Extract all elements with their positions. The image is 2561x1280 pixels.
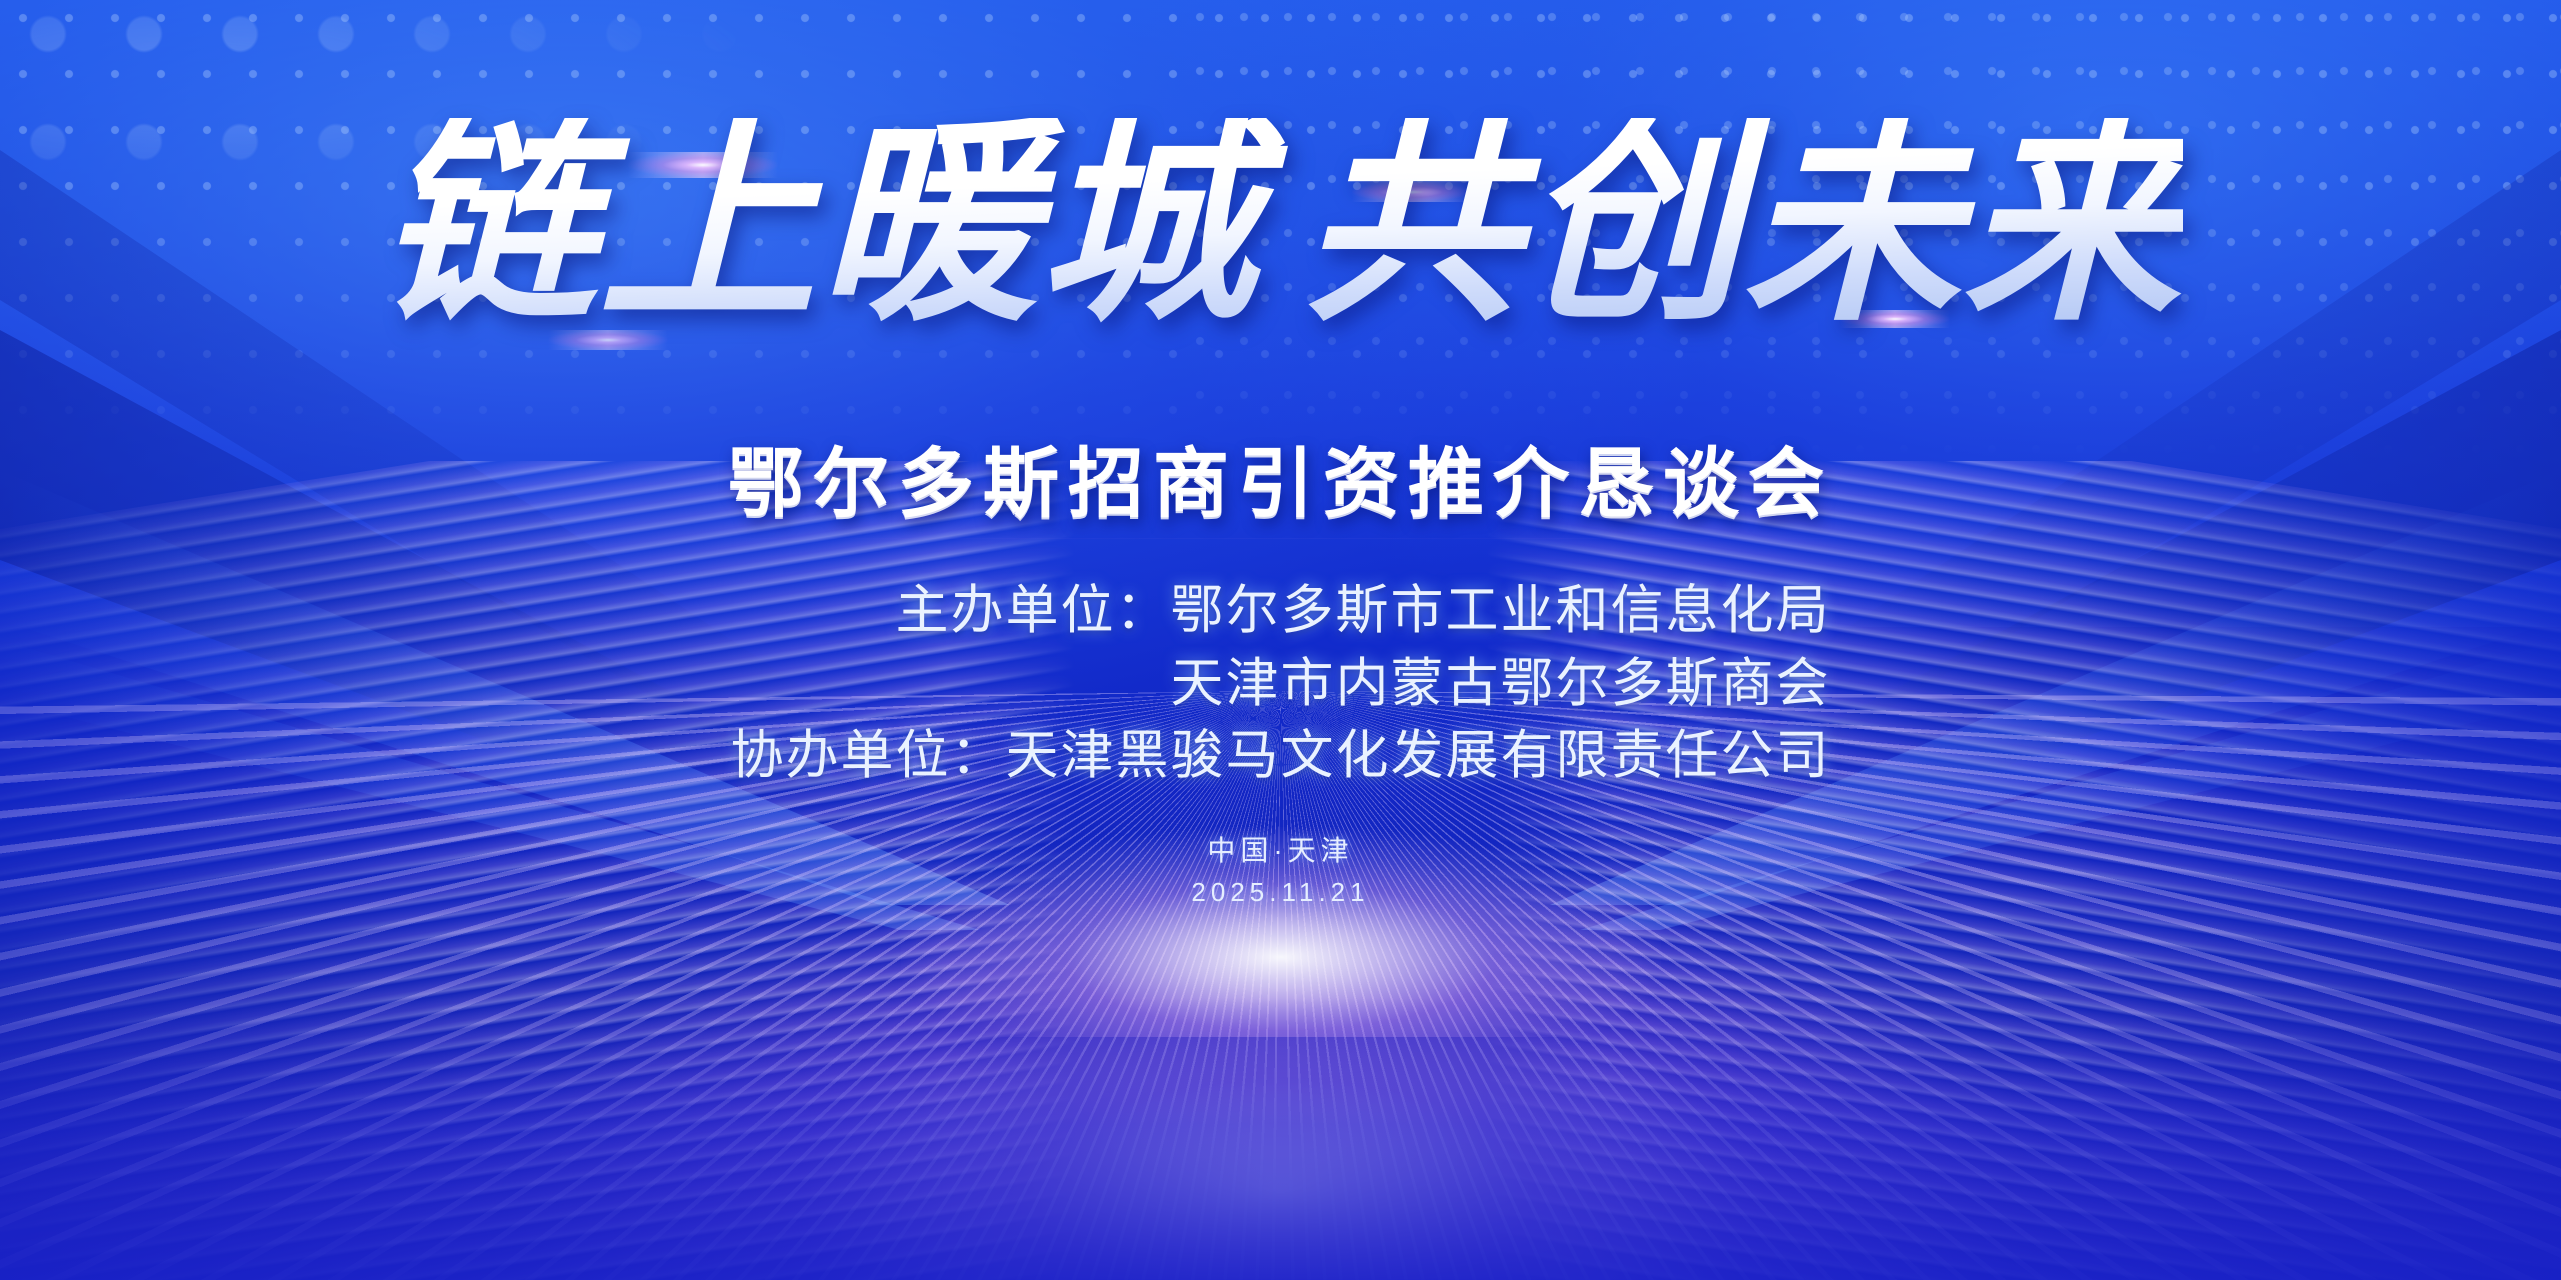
organizer-line: 天津市内蒙古鄂尔多斯商会	[731, 648, 1831, 721]
organizer-line: 主办单位：鄂尔多斯市工业和信息化局	[731, 575, 1831, 648]
title-phrase-two: 共创未来	[1303, 106, 2183, 347]
event-date: 2025.11.21	[1191, 872, 1369, 914]
event-banner: 链上暖城共创未来 鄂尔多斯招商引资推介恳谈会 主办单位：鄂尔多斯市工业和信息化局…	[0, 0, 2561, 1280]
banner-main-title: 链上暖城共创未来	[379, 118, 2183, 336]
organizer-list: 主办单位：鄂尔多斯市工业和信息化局 天津市内蒙古鄂尔多斯商会 协办单位：天津黑骏…	[731, 575, 1831, 793]
title-phrase-one: 链上暖城	[379, 106, 1259, 347]
banner-subtitle: 鄂尔多斯招商引资推介恳谈会	[728, 443, 1833, 527]
event-location: 中国·天津	[1191, 830, 1369, 872]
event-meta: 中国·天津 2025.11.21	[1191, 830, 1369, 914]
organizer-line: 协办单位：天津黑骏马文化发展有限责任公司	[731, 720, 1831, 793]
